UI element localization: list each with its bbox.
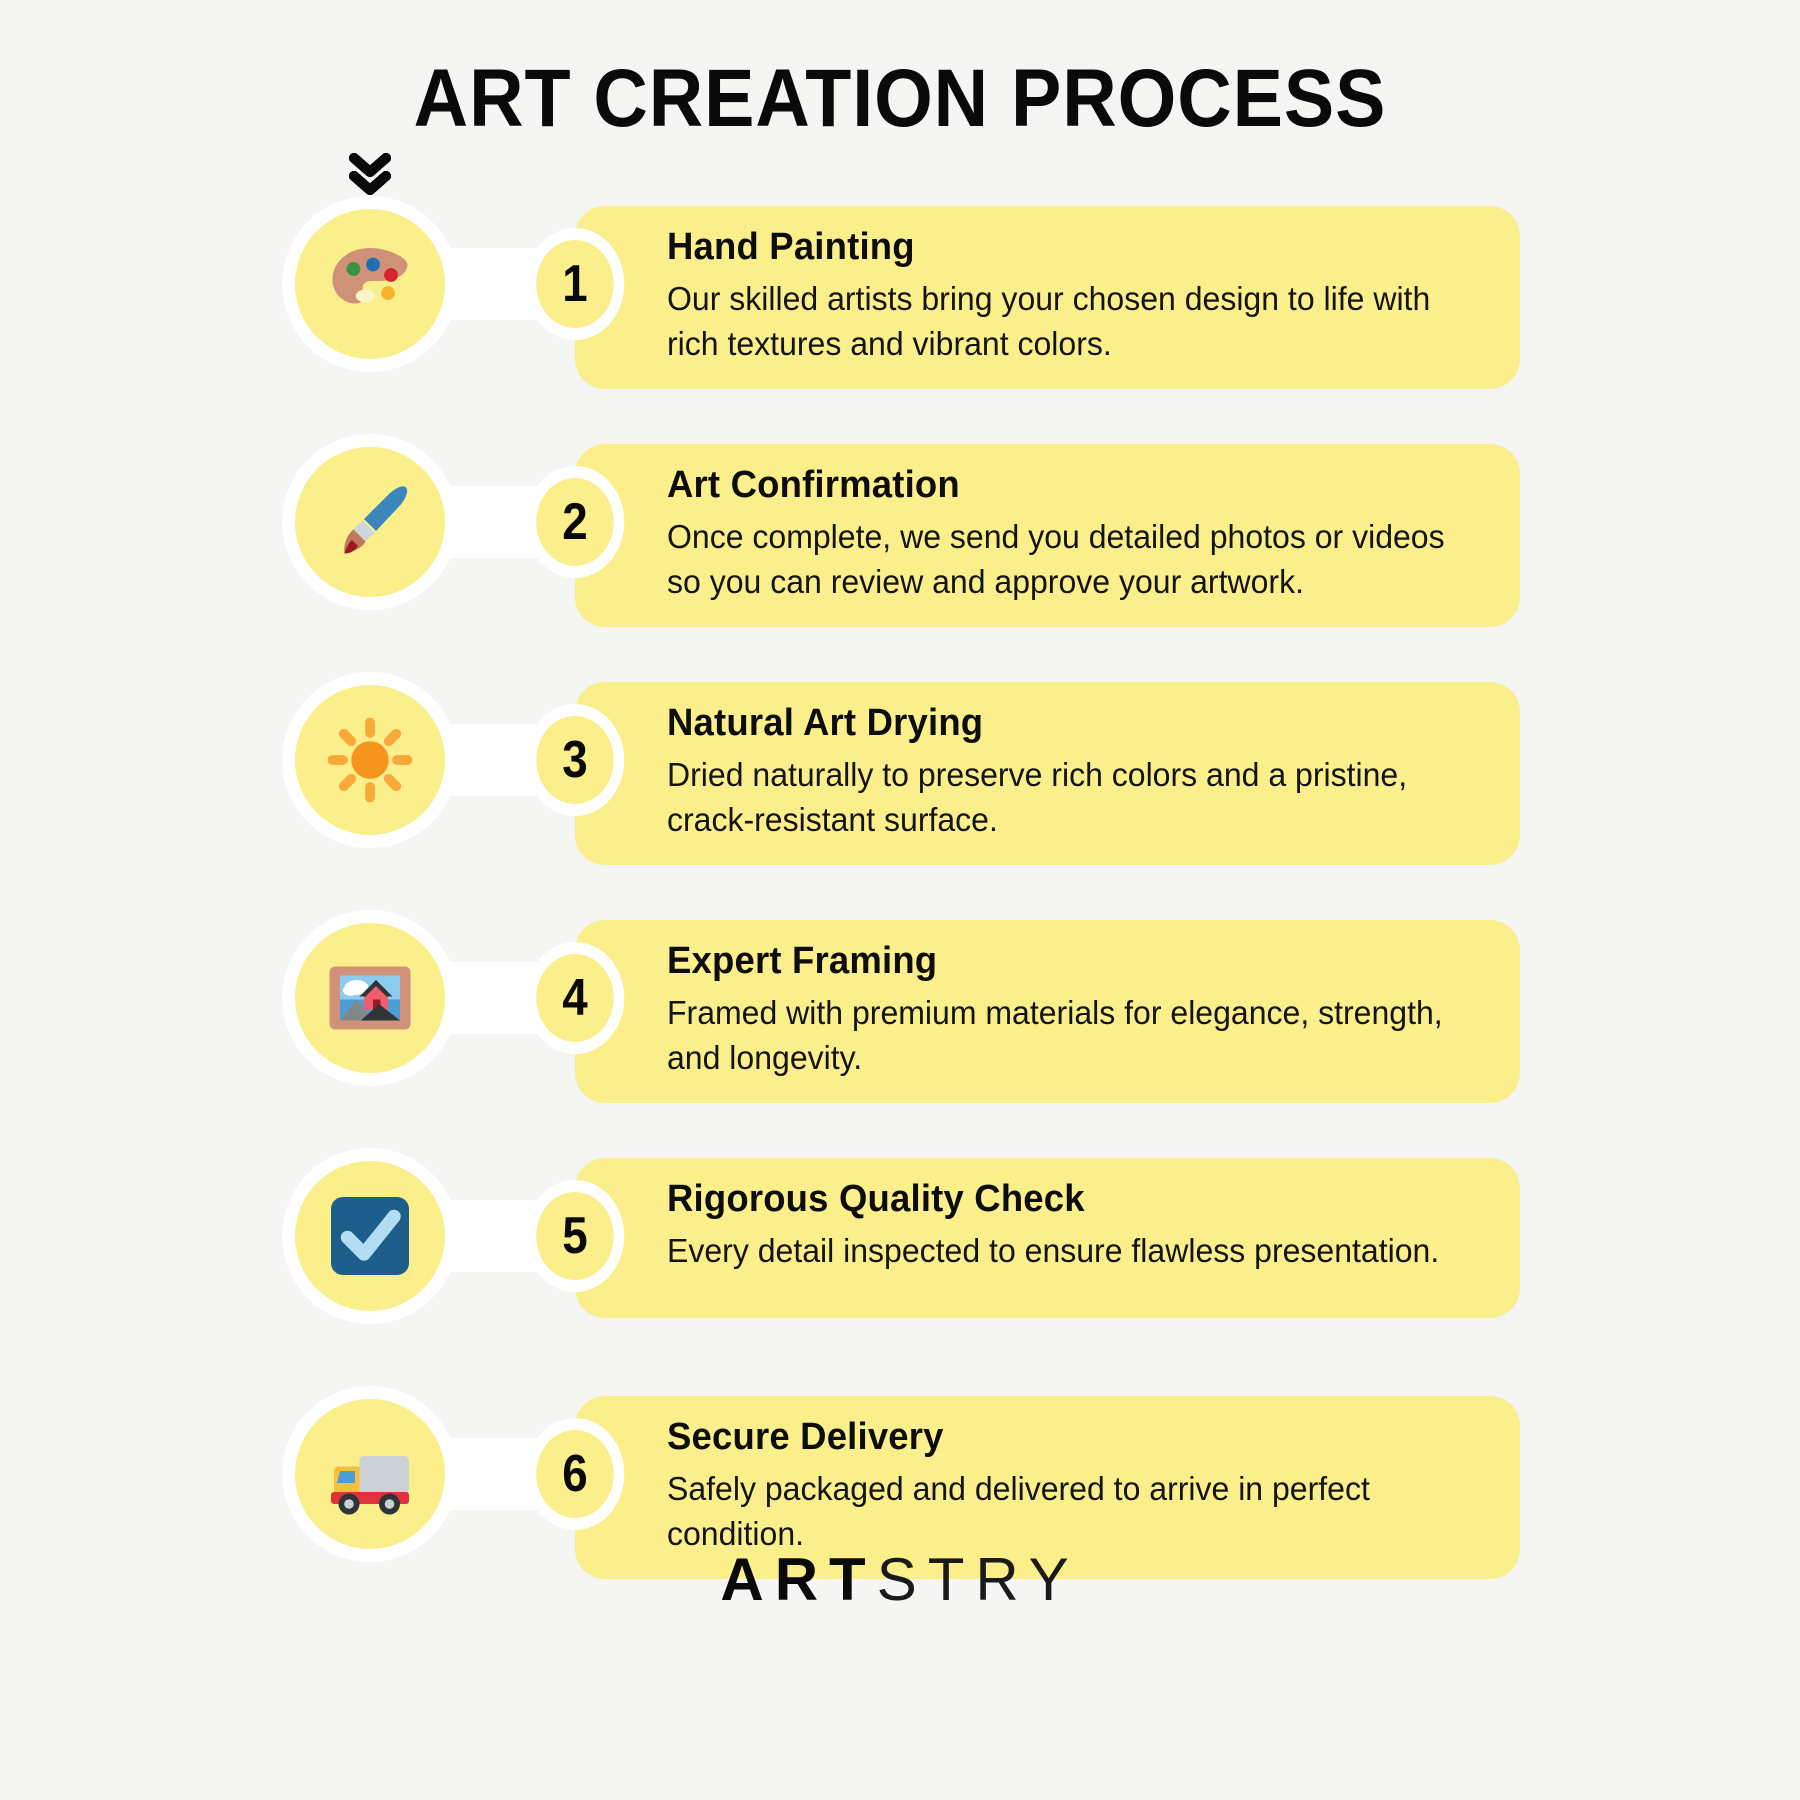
step-card: Natural Art Drying Dried naturally to pr… xyxy=(575,682,1520,865)
step-title: Natural Art Drying xyxy=(667,702,1447,746)
paint-palette-icon xyxy=(322,236,418,332)
process-step: Rigorous Quality Check Every detail insp… xyxy=(0,1148,1800,1324)
step-card: Expert Framing Framed with premium mater… xyxy=(575,920,1520,1103)
step-card: Rigorous Quality Check Every detail insp… xyxy=(575,1158,1520,1318)
logo-bold-text: ART xyxy=(720,1546,876,1613)
step-icon-circle xyxy=(282,196,458,372)
brand-logo: ARTSTRY xyxy=(0,1545,1800,1614)
step-number-badge: 3 xyxy=(526,704,625,816)
step-number-badge: 2 xyxy=(526,466,625,578)
step-description: Safely packaged and delivered to arrive … xyxy=(667,1466,1456,1557)
step-title: Rigorous Quality Check xyxy=(667,1178,1447,1222)
step-card: Art Confirmation Once complete, we send … xyxy=(575,444,1520,627)
check-mark-box-icon xyxy=(322,1188,418,1284)
step-number-badge: 6 xyxy=(526,1418,625,1530)
step-title: Hand Painting xyxy=(667,226,1447,270)
step-description: Our skilled artists bring your chosen de… xyxy=(667,276,1456,367)
paintbrush-icon xyxy=(322,474,418,570)
sun-icon xyxy=(322,712,418,808)
process-step: Art Confirmation Once complete, we send … xyxy=(0,434,1800,610)
step-icon-circle xyxy=(282,1148,458,1324)
step-icon-circle xyxy=(282,672,458,848)
step-icon-circle xyxy=(282,1386,458,1562)
process-steps-list: Hand Painting Our skilled artists bring … xyxy=(0,196,1800,1562)
step-description: Once complete, we send you detailed phot… xyxy=(667,514,1456,605)
double-chevron-down-icon xyxy=(340,146,400,202)
step-number-badge: 5 xyxy=(526,1180,625,1292)
step-number-badge: 4 xyxy=(526,942,625,1054)
logo-light-text: STRY xyxy=(877,1546,1080,1613)
process-step: Natural Art Drying Dried naturally to pr… xyxy=(0,672,1800,848)
step-description: Dried naturally to preserve rich colors … xyxy=(667,752,1456,843)
step-description: Framed with premium materials for elegan… xyxy=(667,990,1456,1081)
step-icon-circle xyxy=(282,434,458,610)
infographic-page: ART CREATION PROCESS Hand Painting Our s… xyxy=(0,0,1800,1800)
process-step: Expert Framing Framed with premium mater… xyxy=(0,910,1800,1086)
delivery-truck-icon xyxy=(322,1426,418,1522)
step-title: Secure Delivery xyxy=(667,1416,1447,1460)
process-step: Hand Painting Our skilled artists bring … xyxy=(0,196,1800,372)
step-card: Hand Painting Our skilled artists bring … xyxy=(575,206,1520,389)
step-title: Art Confirmation xyxy=(667,464,1447,508)
step-title: Expert Framing xyxy=(667,940,1447,984)
step-number-badge: 1 xyxy=(526,228,625,340)
page-title: ART CREATION PROCESS xyxy=(72,52,1728,146)
step-description: Every detail inspected to ensure flawles… xyxy=(667,1228,1456,1274)
framed-picture-icon xyxy=(322,950,418,1046)
step-icon-circle xyxy=(282,910,458,1086)
process-step: Secure Delivery Safely packaged and deli… xyxy=(0,1386,1800,1562)
